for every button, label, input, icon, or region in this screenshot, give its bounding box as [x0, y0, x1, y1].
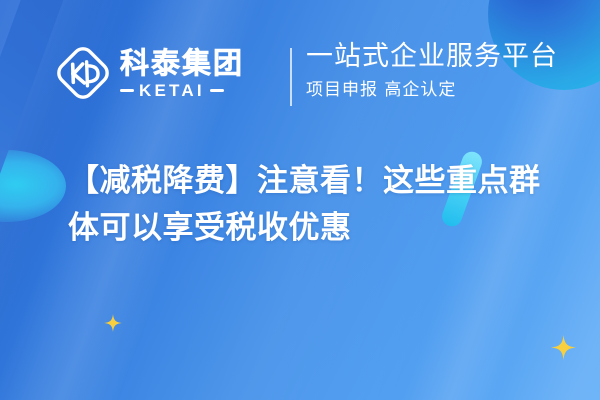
logo-wordmark: 科泰集团 KETAI: [120, 47, 244, 100]
header-tagline: 一站式企业服务平台 项目申报 高企认定: [306, 40, 558, 102]
brand-logo[interactable]: 科泰集团 KETAI: [54, 44, 244, 102]
logo-english-name: KETAI: [139, 82, 205, 100]
sparkle-star-icon: [551, 335, 576, 360]
header-divider: [290, 48, 292, 106]
logo-english-row: KETAI: [120, 82, 244, 100]
logo-rule-left: [120, 89, 134, 92]
cyan-blob-decoration: [0, 150, 66, 222]
page-title-line-2: 体可以享受税收优惠: [68, 205, 580, 252]
page-title: 【减税降费】注意看！这些重点群 体可以享受税收优惠: [68, 158, 580, 252]
promo-banner: 科泰集团 KETAI 一站式企业服务平台 项目申报 高企认定 【减税降费】注意看…: [0, 0, 600, 400]
logo-chinese-name: 科泰集团: [120, 47, 244, 79]
tagline-primary: 一站式企业服务平台: [306, 40, 558, 74]
logo-rule-right: [210, 89, 224, 92]
sparkle-star-icon: [104, 314, 122, 332]
page-title-line-1: 【减税降费】注意看！这些重点群: [68, 158, 580, 205]
tagline-secondary: 项目申报 高企认定: [306, 78, 558, 102]
ketai-diamond-monogram-icon: [54, 44, 112, 102]
banner-header: 科泰集团 KETAI 一站式企业服务平台 项目申报 高企认定: [0, 40, 600, 114]
